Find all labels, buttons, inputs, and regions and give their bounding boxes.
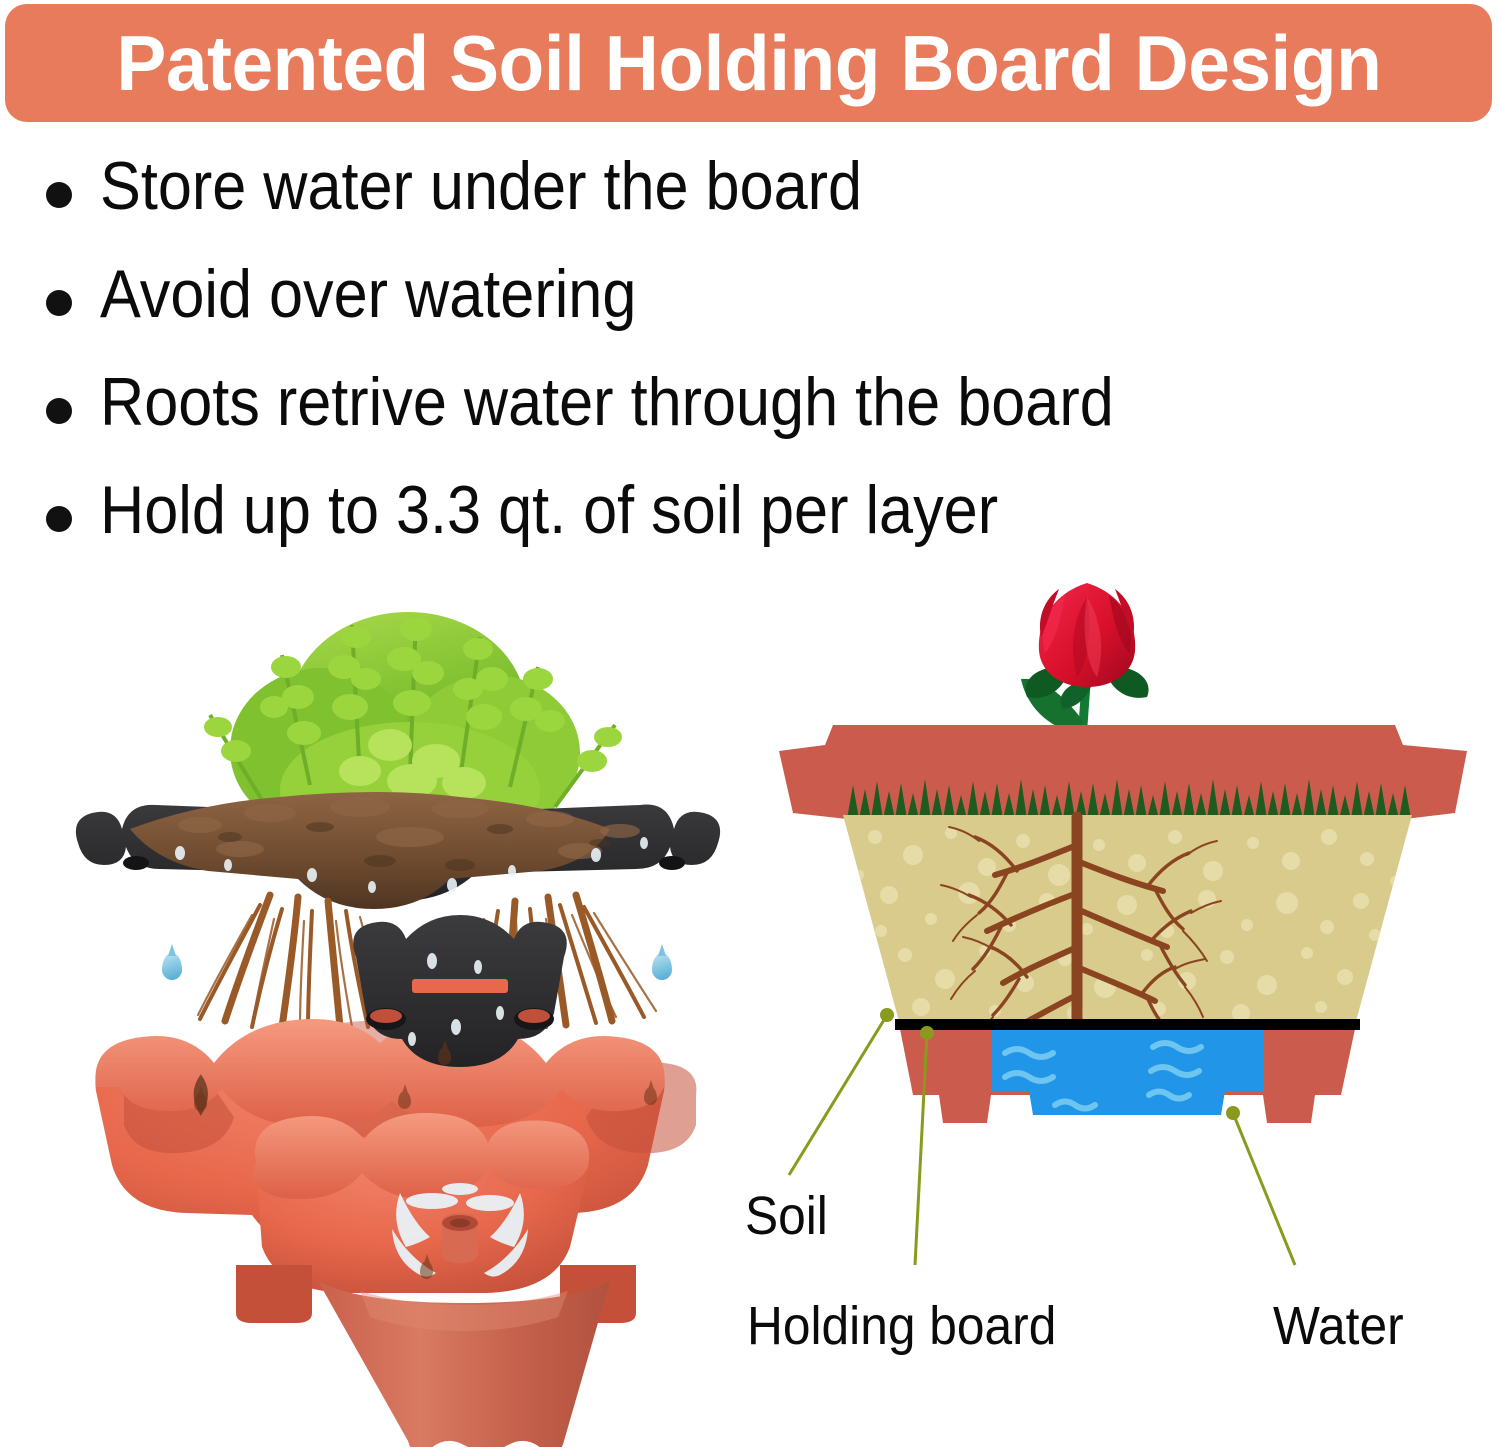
list-item: Hold up to 3.3 qt. of soil per layer bbox=[46, 476, 1466, 584]
pot-rim bbox=[779, 725, 1467, 819]
bullet-dot-icon bbox=[46, 398, 72, 424]
bullet-text: Store water under the board bbox=[100, 152, 862, 221]
bullet-dot-icon bbox=[46, 290, 72, 316]
water-drop-mark-icon bbox=[398, 1091, 411, 1109]
soil-layer bbox=[843, 815, 1412, 1025]
water-drop-mark-icon bbox=[644, 1087, 657, 1105]
label-holding-board: Holding board bbox=[747, 1295, 1056, 1357]
water-droplet-icon bbox=[652, 953, 672, 980]
bullet-text: Hold up to 3.3 qt. of soil per layer bbox=[100, 476, 998, 545]
list-item: Avoid over watering bbox=[46, 260, 1466, 368]
holding-board-line bbox=[895, 1019, 1360, 1030]
water-reservoir bbox=[991, 1029, 1263, 1115]
header-banner: Patented Soil Holding Board Design bbox=[5, 4, 1492, 122]
product-photo-stackable-planter bbox=[60, 575, 760, 1447]
water-drop-mark-icon bbox=[420, 1261, 433, 1279]
list-item: Roots retrive water through the board bbox=[46, 368, 1466, 476]
feature-bullet-list: Store water under the board Avoid over w… bbox=[46, 152, 1466, 584]
holding-board-top bbox=[76, 792, 720, 909]
water-drop-mark-icon bbox=[194, 1093, 207, 1111]
bullet-dot-icon bbox=[46, 182, 72, 208]
stackable-planter-body bbox=[95, 1019, 696, 1447]
cross-section-diagram: Soil Holding board Water bbox=[755, 575, 1500, 1447]
label-water: Water bbox=[1273, 1295, 1404, 1357]
planter-illustration bbox=[60, 575, 760, 1447]
illustration-area: Soil Holding board Water bbox=[0, 575, 1500, 1447]
page-title: Patented Soil Holding Board Design bbox=[116, 24, 1381, 102]
label-soil: Soil bbox=[745, 1185, 828, 1247]
bullet-dot-icon bbox=[46, 506, 72, 532]
water-drop-mark-icon bbox=[438, 1047, 451, 1065]
bullet-text: Avoid over watering bbox=[100, 260, 636, 329]
list-item: Store water under the board bbox=[46, 152, 1466, 260]
bullet-text: Roots retrive water through the board bbox=[100, 368, 1114, 437]
water-droplet-icon bbox=[162, 953, 182, 980]
